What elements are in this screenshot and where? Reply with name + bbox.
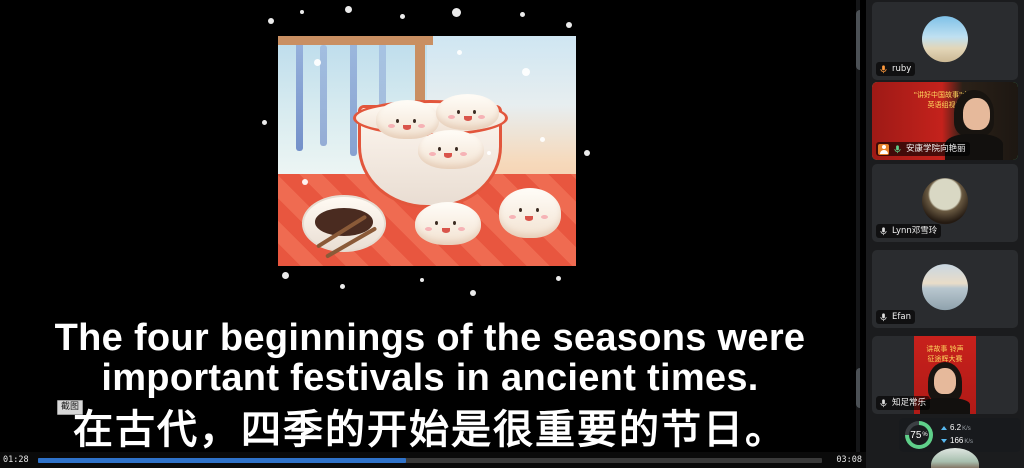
stage-scrollbar-thumb[interactable] [856, 10, 860, 70]
shared-content-stage[interactable]: The four beginnings of the seasons were … [0, 0, 860, 452]
download-unit: K/s [964, 439, 973, 445]
subtitle-chinese: 在古代，四季的开始是很重要的节日。 [0, 408, 860, 452]
percent-symbol: % [922, 432, 927, 438]
participant-name: 安康学院向艳丽 [906, 143, 966, 155]
tree-decoration [320, 45, 327, 146]
mic-icon [892, 144, 903, 155]
mic-icon [878, 64, 889, 75]
tree-decoration [296, 41, 303, 151]
video-player-bar[interactable]: 01:28 03:08 [0, 452, 866, 468]
dumpling [418, 130, 484, 169]
dumpling [499, 188, 562, 239]
participant-tile-lynn[interactable]: Lynn邓雪玲 [872, 164, 1018, 242]
mic-muted-icon [878, 226, 889, 237]
participant-nameplate: Lynn邓雪玲 [876, 224, 941, 238]
participant-name: 知足常乐 [892, 397, 926, 409]
upload-speed: 6.2K/s [941, 423, 971, 434]
total-time: 03:08 [836, 455, 862, 465]
arrow-down-icon [941, 439, 947, 443]
stage-scrollbar-thumb-secondary[interactable] [856, 368, 860, 408]
participant-tile-ruby[interactable]: ruby [872, 2, 1018, 80]
mic-muted-icon [878, 312, 889, 323]
face [963, 98, 990, 130]
upload-unit: K/s [962, 426, 971, 432]
dumpling [415, 202, 481, 246]
avatar [922, 178, 968, 224]
participant-nameplate: Efan [876, 310, 915, 324]
system-stats-widget[interactable]: 75% 6.2K/s 166K/s [899, 418, 1021, 452]
current-time: 01:28 [3, 455, 29, 465]
participant-name: Efan [892, 311, 911, 323]
seek-track[interactable] [38, 458, 822, 463]
host-badge-icon [878, 144, 889, 155]
banner-text: 讲故事 铃声 征途辉大赛 [914, 344, 976, 364]
tree-decoration [350, 36, 357, 156]
participant-tile-host[interactable]: "讲好中国故事"大赛 英语组视频 安康学院向艳丽 [872, 82, 1018, 160]
avatar [922, 264, 968, 310]
upload-value: 6.2 [950, 423, 961, 432]
subtitle-english-line1: The four beginnings of the seasons were [55, 317, 806, 359]
subtitle-english-line2: important festivals in ancient times. [0, 358, 860, 398]
arrow-up-icon [941, 426, 947, 430]
mic-muted-icon [878, 398, 889, 409]
cpu-usage-value: 75 [910, 430, 921, 441]
avatar [922, 16, 968, 62]
participant-tile-efan[interactable]: Efan [872, 250, 1018, 328]
subtitle-english: The four beginnings of the seasons were … [0, 318, 860, 398]
face [934, 368, 956, 394]
widget-avatar [931, 448, 979, 468]
screen-share-meeting-window: The four beginnings of the seasons were … [0, 0, 1024, 468]
participant-name: ruby [892, 63, 911, 75]
participant-nameplate: ruby [876, 62, 915, 76]
banner-text: "讲好中国故事"大赛 英语组视频 [872, 90, 1018, 110]
participant-name: Lynn邓雪玲 [892, 225, 937, 237]
download-speed: 166K/s [941, 436, 973, 447]
participant-nameplate: 知足常乐 [876, 396, 930, 410]
seek-progress[interactable] [38, 458, 406, 463]
participant-tile-zhizuchangle[interactable]: 讲故事 铃声 征途辉大赛 知足常乐 [872, 336, 1018, 414]
participant-nameplate: 安康学院向艳丽 [876, 142, 970, 156]
window-frame [278, 36, 433, 45]
cpu-usage-label: 75% [905, 421, 933, 449]
participant-rail[interactable]: ruby "讲好中国故事"大赛 英语组视频 安康学院向艳丽 [866, 0, 1024, 468]
download-value: 166 [950, 436, 963, 445]
slide-illustration [278, 36, 576, 266]
dumpling [436, 94, 499, 131]
stage-scrollbar[interactable] [856, 0, 860, 452]
